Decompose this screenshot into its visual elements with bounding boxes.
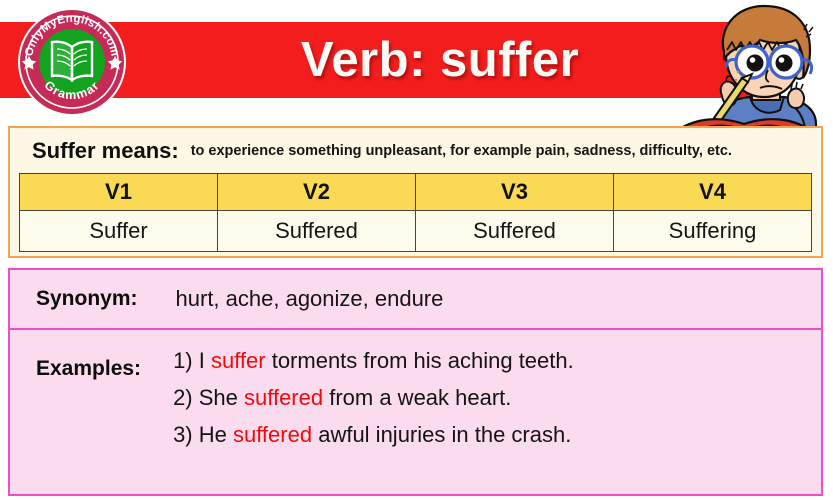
list-item: 1) I suffer torments from his aching tee… — [173, 348, 574, 374]
example-highlight: suffered — [244, 385, 323, 410]
site-logo: OnlyMyEnglish.com Grammar — [16, 6, 128, 118]
example-highlight: suffer — [211, 348, 266, 373]
definition-text: to experience something unpleasant, for … — [191, 143, 732, 159]
verb-forms-table: V1 V2 V3 V4 Suffer Suffered Suffered Suf… — [19, 173, 812, 252]
example-number: 3) — [173, 422, 193, 447]
table-cell-v1: Suffer — [20, 211, 218, 252]
examples-list: 1) I suffer torments from his aching tee… — [173, 348, 574, 459]
examples-label: Examples: — [36, 357, 141, 381]
synonym-panel: Synonym: hurt, ache, agonize, endure — [8, 268, 823, 330]
synonym-label: Synonym: — [36, 287, 138, 311]
table-cell-v2: Suffered — [218, 211, 416, 252]
synonym-text: hurt, ache, agonize, endure — [176, 286, 444, 312]
page-header: Verb: suffer — [0, 0, 833, 120]
table-header-v4: V4 — [614, 174, 812, 211]
table-cell-v4: Suffering — [614, 211, 812, 252]
example-before: He — [193, 422, 233, 447]
example-after: torments from his aching teeth. — [266, 348, 574, 373]
list-item: 3) He suffered awful injuries in the cra… — [173, 422, 574, 448]
boy-reading-book-illustration — [664, 0, 833, 146]
example-before: She — [193, 385, 244, 410]
table-row: Suffer Suffered Suffered Suffering — [20, 211, 812, 252]
definition-row: Suffer means: to experience something un… — [10, 128, 821, 173]
example-highlight: suffered — [233, 422, 312, 447]
example-after: awful injuries in the crash. — [312, 422, 571, 447]
example-number: 1) — [173, 348, 193, 373]
table-header-v3: V3 — [416, 174, 614, 211]
table-header-v1: V1 — [20, 174, 218, 211]
definition-and-forms-panel: Suffer means: to experience something un… — [8, 126, 823, 258]
table-header-v2: V2 — [218, 174, 416, 211]
definition-label: Suffer means: — [32, 138, 179, 164]
examples-panel: Examples: 1) I suffer torments from his … — [8, 330, 823, 496]
list-item: 2) She suffered from a weak heart. — [173, 385, 574, 411]
table-cell-v3: Suffered — [416, 211, 614, 252]
example-before: I — [193, 348, 211, 373]
table-header-row: V1 V2 V3 V4 — [20, 174, 812, 211]
example-after: from a weak heart. — [323, 385, 511, 410]
example-number: 2) — [173, 385, 193, 410]
page-title: Verb: suffer — [180, 22, 700, 98]
